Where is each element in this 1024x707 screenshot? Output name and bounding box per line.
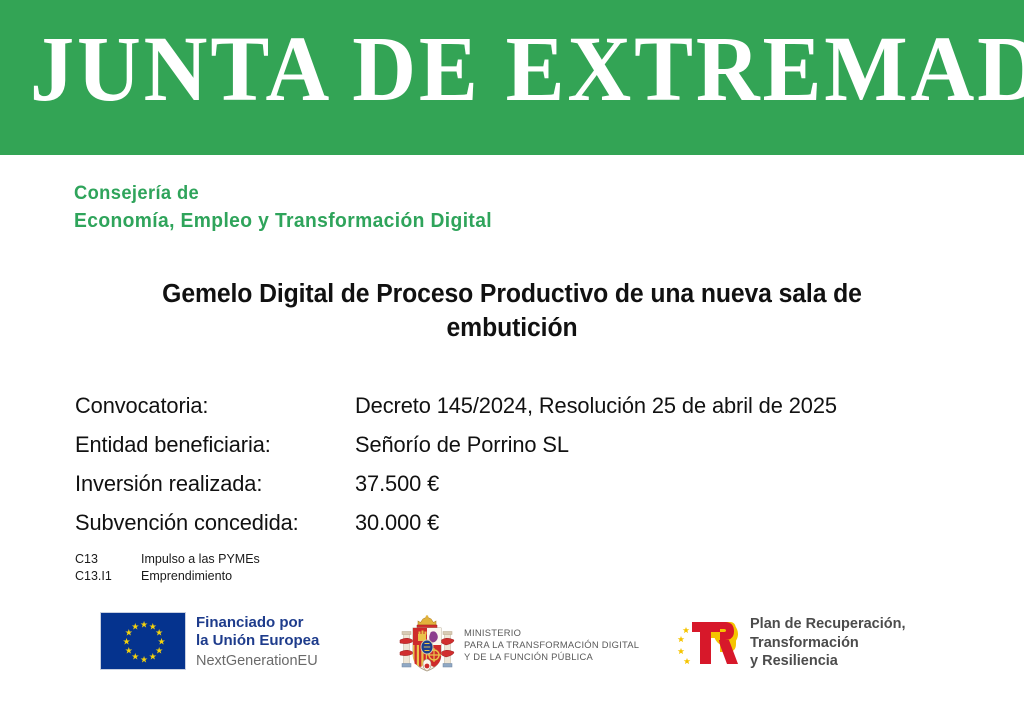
eu-star-icon: ★ xyxy=(140,620,149,629)
ministry-text-line-2: PARA LA TRANSFORMACIÓN DIGITAL xyxy=(464,639,639,651)
ministry-text-line-3: Y DE LA FUNCIÓN PÚBLICA xyxy=(464,651,639,663)
eu-text-line-2: la Unión Europea xyxy=(196,632,319,650)
detail-value: 37.500 € xyxy=(355,464,956,503)
spain-coat-of-arms-icon xyxy=(398,614,456,676)
ministry-logo: MINISTERIO PARA LA TRANSFORMACIÓN DIGITA… xyxy=(398,614,639,676)
component-code-key: C13 xyxy=(75,551,141,568)
component-code-row: C13 Impulso a las PYMEs xyxy=(75,551,260,568)
detail-row-entidad-beneficiaria: Entidad beneficiaria: Señorío de Porrino… xyxy=(75,425,975,464)
prtr-text-line-2: Transformación xyxy=(750,634,906,653)
eu-star-icon: ★ xyxy=(122,638,131,647)
prtr-logo-text: Plan de Recuperación, Transformación y R… xyxy=(750,615,906,671)
detail-row-convocatoria: Convocatoria: Decreto 145/2024, Resoluci… xyxy=(75,386,975,425)
eu-star-icon: ★ xyxy=(131,622,140,631)
component-code-row: C13.I1 Emprendimiento xyxy=(75,568,260,585)
consejeria-line-2: Economía, Empleo y Transformación Digita… xyxy=(74,207,492,234)
detail-value: Decreto 145/2024, Resolución 25 de abril… xyxy=(355,386,956,425)
page-title: Gemelo Digital de Proceso Productivo de … xyxy=(124,277,900,345)
project-details-list: Convocatoria: Decreto 145/2024, Resoluci… xyxy=(75,386,975,542)
eu-next-generation-label: NextGenerationEU xyxy=(196,652,319,671)
prtr-logo: Plan de Recuperación, Transformación y R… xyxy=(676,614,906,672)
ministry-logo-text: MINISTERIO PARA LA TRANSFORMACIÓN DIGITA… xyxy=(464,627,639,664)
ministry-text-line-1: MINISTERIO xyxy=(464,627,639,639)
component-code-desc: Emprendimiento xyxy=(141,568,232,585)
eu-logo-text: Financiado por la Unión Europea NextGene… xyxy=(196,612,319,671)
prtr-text-line-3: y Resiliencia xyxy=(750,652,906,671)
prtr-text-line-1: Plan de Recuperación, xyxy=(750,615,906,634)
detail-label: Entidad beneficiaria: xyxy=(75,425,347,464)
component-code-desc: Impulso a las PYMEs xyxy=(141,551,260,568)
component-codes-list: C13 Impulso a las PYMEs C13.I1 Emprendim… xyxy=(75,551,260,585)
detail-row-subvencion-concedida: Subvención concedida: 30.000 € xyxy=(75,503,975,542)
detail-label: Inversión realizada: xyxy=(75,464,347,503)
consejeria-subtitle: Consejería de Economía, Empleo y Transfo… xyxy=(74,180,492,234)
detail-value: 30.000 € xyxy=(355,503,956,542)
eu-text-line-1: Financiado por xyxy=(196,614,319,632)
eu-star-icon: ★ xyxy=(124,646,133,655)
eu-star-icon: ★ xyxy=(140,655,149,664)
organization-title: JUNTA DE EXTREMADURA xyxy=(30,18,946,122)
component-code-key: C13.I1 xyxy=(75,568,141,585)
eu-funding-logo: ★★★★★★★★★★★★ Financiado por la Unión Eur… xyxy=(100,612,319,671)
detail-row-inversion-realizada: Inversión realizada: 37.500 € xyxy=(75,464,975,503)
consejeria-line-1: Consejería de xyxy=(74,180,492,207)
detail-value: Señorío de Porrino SL xyxy=(355,425,956,464)
eu-star-icon: ★ xyxy=(148,653,157,662)
prtr-mark-icon xyxy=(676,614,742,672)
funding-logos-strip: ★★★★★★★★★★★★ Financiado por la Unión Eur… xyxy=(0,606,1024,686)
detail-label: Subvención concedida: xyxy=(75,503,347,542)
detail-label: Convocatoria: xyxy=(75,386,347,425)
header-banner: JUNTA DE EXTREMADURA xyxy=(0,0,1024,155)
eu-flag-icon: ★★★★★★★★★★★★ xyxy=(100,612,186,670)
